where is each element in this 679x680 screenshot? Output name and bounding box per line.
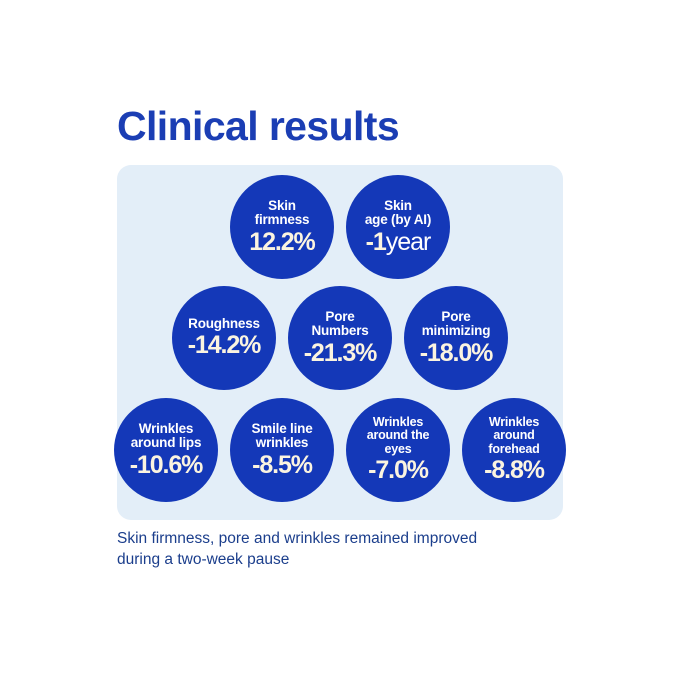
metric-value: 12.2% [249, 229, 314, 256]
metric-label: Smile line wrinkles [251, 422, 312, 451]
metric-label: Wrinkles around lips [131, 422, 202, 451]
metric-label: Skin firmness [255, 199, 310, 228]
metric-value: -18.0% [420, 340, 493, 367]
metric-bubble-roughness: Roughness -14.2% [172, 286, 276, 390]
metric-bubble-pore-numbers: Pore Numbers -21.3% [288, 286, 392, 390]
metric-value: -10.6% [130, 452, 203, 479]
metric-bubble-smile-line-wrinkles: Smile line wrinkles -8.5% [230, 398, 334, 502]
metric-bubble-wrinkles-around-lips: Wrinkles around lips -10.6% [114, 398, 218, 502]
metric-label: Skin age (by AI) [365, 199, 431, 228]
bubble-row-1: Skin firmness 12.2% Skin age (by AI) -1y… [117, 175, 563, 279]
metric-label: Pore Numbers [311, 310, 368, 339]
metric-label: Roughness [188, 317, 260, 332]
metric-label: Wrinkles around forehead [488, 416, 539, 457]
metric-value: -8.8% [484, 457, 544, 484]
metric-bubble-skin-age: Skin age (by AI) -1year [346, 175, 450, 279]
metric-value: -1year [366, 229, 431, 256]
caption-text: Skin firmness, pore and wrinkles remaine… [117, 528, 587, 570]
metric-bubble-skin-firmness: Skin firmness 12.2% [230, 175, 334, 279]
metric-value-number: -1 [366, 228, 386, 256]
metric-bubble-wrinkles-around-forehead: Wrinkles around forehead -8.8% [462, 398, 566, 502]
metric-label: Pore minimizing [422, 310, 491, 339]
metric-bubble-wrinkles-around-eyes: Wrinkles around the eyes -7.0% [346, 398, 450, 502]
metric-value: -7.0% [368, 457, 428, 484]
metric-value: -14.2% [188, 332, 261, 359]
bubble-row-2: Roughness -14.2% Pore Numbers -21.3% Por… [117, 286, 563, 390]
metric-bubble-pore-minimizing: Pore minimizing -18.0% [404, 286, 508, 390]
results-panel: Skin firmness 12.2% Skin age (by AI) -1y… [117, 165, 563, 520]
metric-value-unit: year [386, 228, 431, 256]
clinical-results-infographic: Clinical results Skin firmness 12.2% Ski… [0, 0, 679, 680]
bubble-row-3: Wrinkles around lips -10.6% Smile line w… [117, 398, 563, 502]
metric-label: Wrinkles around the eyes [367, 416, 430, 457]
metric-value: -21.3% [304, 340, 377, 367]
page-title: Clinical results [117, 103, 399, 149]
metric-value: -8.5% [252, 452, 312, 479]
